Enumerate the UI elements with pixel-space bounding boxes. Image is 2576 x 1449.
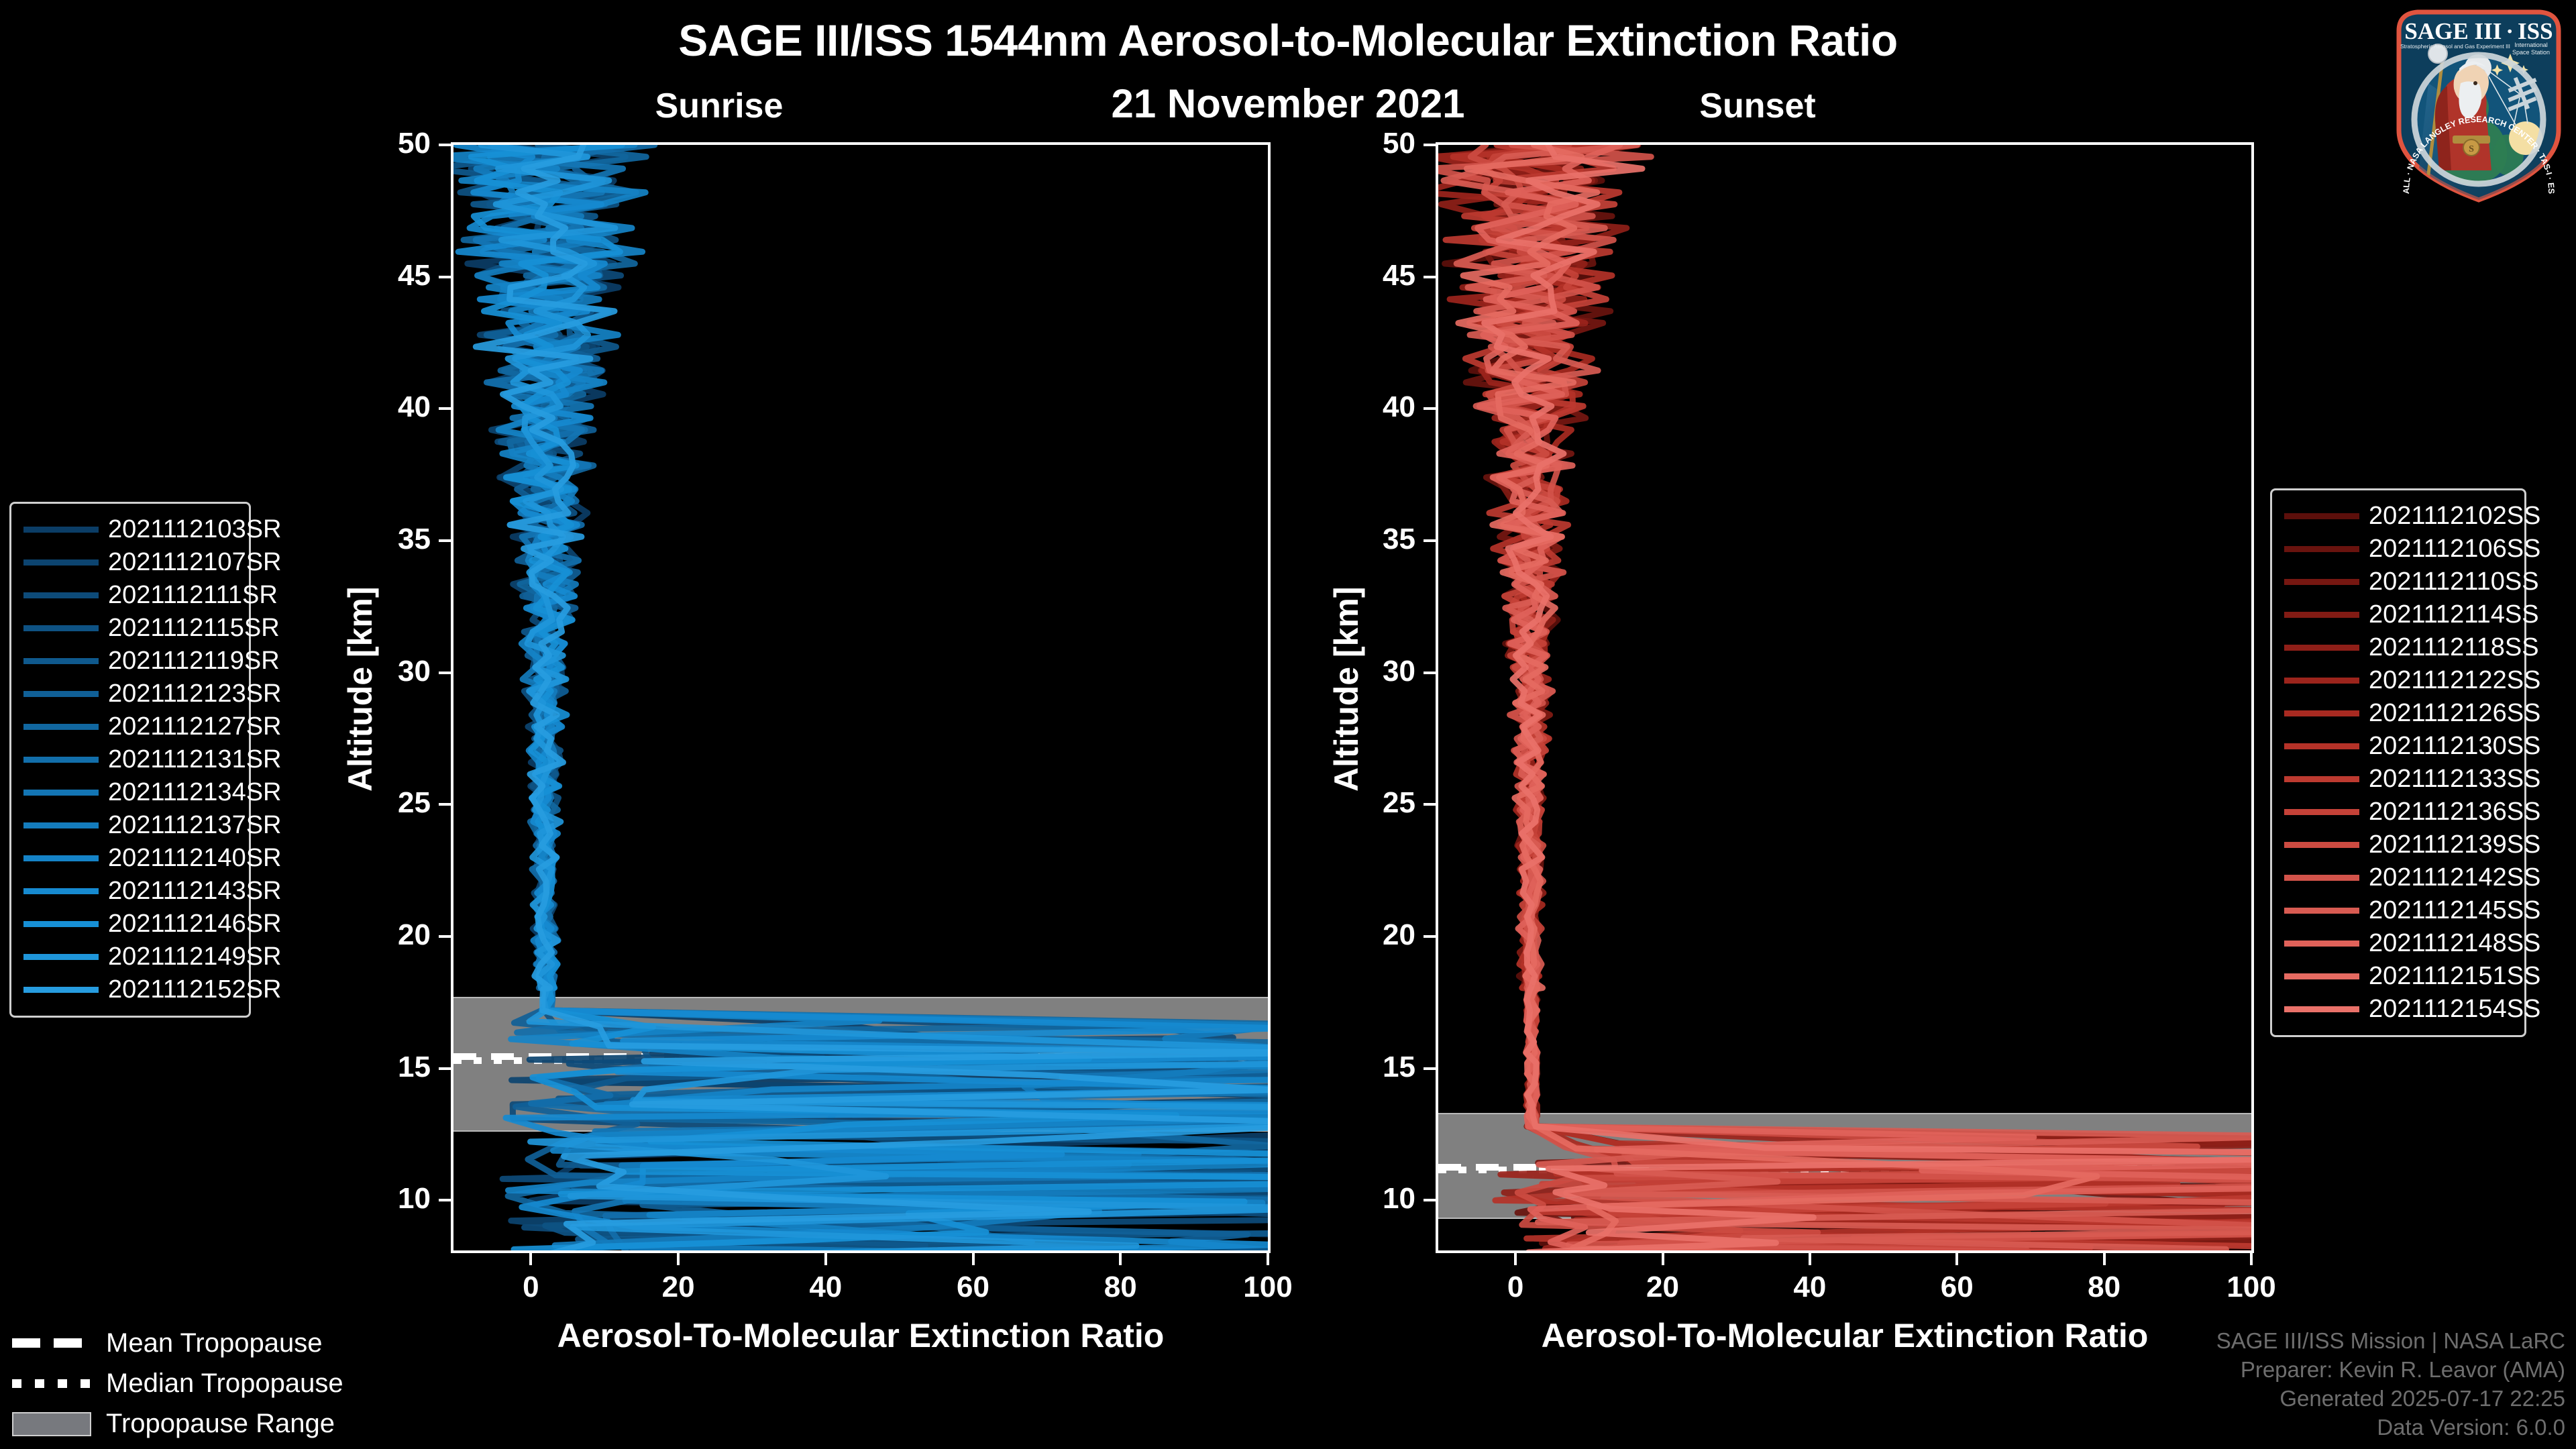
logo-subtitle-right-2: Space Station — [2512, 49, 2550, 56]
y-tick-mark-left-30 — [439, 672, 451, 674]
tropopause-legend-key — [12, 1336, 91, 1350]
legend-sunrise-item[interactable]: 2021112119SR — [23, 645, 237, 678]
legend-sunset-item[interactable]: 2021112151SS — [2284, 960, 2512, 993]
legend-sunrise-item[interactable]: 2021112103SR — [23, 513, 237, 546]
credits-block: SAGE III/ISS Mission | NASA LaRC Prepare… — [2216, 1327, 2565, 1442]
credit-mission: SAGE III/ISS Mission | NASA LaRC — [2216, 1327, 2565, 1356]
plot-inner-sunrise — [453, 145, 1268, 1250]
x-tick-mark-left-40 — [824, 1253, 827, 1265]
legend-sunrise-label: 2021112107SR — [108, 548, 282, 577]
legend-sunrise-label: 2021112123SR — [108, 680, 282, 708]
legend-sunrise-label: 2021112140SR — [108, 844, 282, 873]
tropopause-legend-label: Median Tropopause — [106, 1368, 343, 1399]
y-tick-label-right-45: 45 — [1335, 259, 1415, 292]
credit-data-version: Data Version: 6.0.0 — [2216, 1413, 2565, 1442]
legend-sunset-label: 2021112114SS — [2369, 600, 2539, 629]
legend-sunrise-label: 2021112137SR — [108, 811, 282, 840]
legend-sunset-item[interactable]: 2021112114SS — [2284, 598, 2512, 631]
legend-sunset-item[interactable]: 2021112102SS — [2284, 500, 2512, 533]
legend-sunrise-item[interactable]: 2021112143SR — [23, 875, 237, 908]
logo-subtitle-left: Stratospheric Aerosol and Gas Experiment… — [2400, 44, 2510, 50]
y-tick-label-left-40: 40 — [350, 390, 431, 424]
y-tick-label-left-50: 50 — [350, 127, 431, 160]
legend-sunset-label: 2021112110SS — [2369, 568, 2539, 596]
y-tick-label-right-50: 50 — [1335, 127, 1415, 160]
y-tick-label-right-15: 15 — [1335, 1051, 1415, 1084]
x-tick-label-left-20: 20 — [625, 1271, 732, 1304]
legend-sunset-label: 2021112118SS — [2369, 633, 2539, 662]
plot-area-sunrise — [451, 142, 1271, 1253]
legend-sunrise-label: 2021112111SR — [108, 581, 278, 610]
legend-sunset-color-swatch — [2284, 546, 2359, 552]
y-tick-label-left-35: 35 — [350, 523, 431, 556]
profile-traces-sunrise — [453, 145, 1268, 1250]
legend-sunrise-label: 2021112146SR — [108, 910, 282, 938]
legend-sunrise-item[interactable]: 2021112127SR — [23, 710, 237, 743]
tropopause-legend-item: Median Tropopause — [12, 1363, 343, 1403]
x-tick-mark-right-80 — [2103, 1253, 2106, 1265]
y-tick-mark-right-15 — [1424, 1067, 1436, 1070]
legend-sunrise-label: 2021112131SR — [108, 745, 282, 774]
tropopause-patch-key-icon — [12, 1412, 91, 1436]
x-tick-mark-right-100 — [2250, 1253, 2253, 1265]
y-tick-label-right-40: 40 — [1335, 390, 1415, 424]
legend-sunset-color-swatch — [2284, 875, 2359, 881]
legend-sunset-color-swatch — [2284, 678, 2359, 684]
tropopause-legend-label: Mean Tropopause — [106, 1328, 322, 1358]
plot-area-sunset — [1436, 142, 2254, 1253]
x-tick-mark-left-60 — [972, 1253, 975, 1265]
legend-sunset-label: 2021112106SS — [2369, 535, 2540, 563]
x-tick-mark-right-0 — [1514, 1253, 1517, 1265]
legend-sunrise-label: 2021112119SR — [108, 647, 280, 676]
y-tick-mark-right-35 — [1424, 539, 1436, 542]
legend-sunrise-item[interactable]: 2021112137SR — [23, 809, 237, 842]
logo-subtitle-right-1: International — [2514, 42, 2548, 48]
legend-sunset-item[interactable]: 2021112142SS — [2284, 861, 2512, 894]
y-tick-label-left-10: 10 — [350, 1182, 431, 1216]
legend-sunrise-item[interactable]: 2021112131SR — [23, 743, 237, 776]
profile-traces-sunset — [1438, 145, 2251, 1250]
panel-title-sunrise: Sunrise — [585, 86, 853, 126]
legend-sunrise-color-swatch — [23, 592, 99, 598]
tropopause-legend-key — [12, 1376, 91, 1391]
legend-sunset-label: 2021112148SS — [2369, 929, 2540, 958]
legend-sunset-color-swatch — [2284, 612, 2359, 618]
y-tick-mark-left-25 — [439, 803, 451, 806]
credit-generated: Generated 2025-07-17 22:25 — [2216, 1385, 2565, 1413]
x-axis-title-sunset: Aerosol-To-Molecular Extinction Ratio — [1436, 1316, 2254, 1355]
legend-sunrise-color-swatch — [23, 822, 99, 828]
x-tick-label-right-0: 0 — [1462, 1271, 1569, 1304]
y-tick-label-right-20: 20 — [1335, 918, 1415, 952]
x-tick-label-right-20: 20 — [1609, 1271, 1717, 1304]
y-tick-mark-left-20 — [439, 935, 451, 938]
legend-sunrise-item[interactable]: 2021112111SR — [23, 579, 237, 612]
y-tick-label-right-35: 35 — [1335, 523, 1415, 556]
figure-root: SAGE III/ISS 1544nm Aerosol-to-Molecular… — [0, 0, 2576, 1449]
tropopause-dashed-key-icon — [12, 1338, 91, 1348]
legend-sunset-item[interactable]: 2021112106SS — [2284, 533, 2512, 566]
logo-title-text: SAGE III·ISS — [2404, 18, 2553, 44]
y-tick-mark-left-35 — [439, 539, 451, 542]
y-tick-label-left-20: 20 — [350, 918, 431, 952]
tropopause-legend-item: Mean Tropopause — [12, 1323, 343, 1363]
legend-sunset-item[interactable]: 2021112136SS — [2284, 796, 2512, 828]
legend-sunset-label: 2021112136SS — [2369, 798, 2540, 826]
legend-sunset-label: 2021112145SS — [2369, 896, 2540, 925]
x-tick-mark-right-20 — [1662, 1253, 1664, 1265]
legend-sunset-color-swatch — [2284, 941, 2359, 947]
page-title: SAGE III/ISS 1544nm Aerosol-to-Molecular… — [0, 15, 2576, 66]
legend-sunrise-color-swatch — [23, 855, 99, 861]
legend-sunrise-item[interactable]: 2021112140SR — [23, 842, 237, 875]
y-tick-mark-right-45 — [1424, 276, 1436, 278]
x-tick-mark-left-20 — [677, 1253, 680, 1265]
y-tick-label-left-15: 15 — [350, 1051, 431, 1084]
legend-sunrise-color-swatch — [23, 658, 99, 664]
y-tick-mark-left-15 — [439, 1067, 451, 1070]
x-tick-label-right-40: 40 — [1756, 1271, 1864, 1304]
legend-sunrise-item[interactable]: 2021112149SR — [23, 941, 237, 973]
legend-sunrise-color-swatch — [23, 757, 99, 763]
legend-sunset-color-swatch — [2284, 710, 2359, 716]
legend-sunrise-color-swatch — [23, 559, 99, 566]
x-tick-label-right-100: 100 — [2198, 1271, 2305, 1304]
sage-iii-iss-logo: S SAGE III·ISS Stratospheric Aerosol and… — [2388, 4, 2569, 205]
legend-sunset-label: 2021112139SS — [2369, 830, 2540, 859]
legend-sunset-color-swatch — [2284, 513, 2359, 519]
legend-sunset-item[interactable]: 2021112122SS — [2284, 664, 2512, 697]
tropopause-dotted-key-icon — [12, 1379, 91, 1388]
legend-sunset-item[interactable]: 2021112130SS — [2284, 730, 2512, 763]
y-tick-mark-right-30 — [1424, 672, 1436, 674]
legend-tropopause: Mean TropopauseMedian TropopauseTropopau… — [12, 1323, 343, 1444]
y-tick-mark-right-40 — [1424, 407, 1436, 410]
x-tick-label-left-40: 40 — [772, 1271, 879, 1304]
tropopause-legend-key — [12, 1416, 91, 1431]
x-tick-label-left-80: 80 — [1067, 1271, 1174, 1304]
legend-sunset-color-swatch — [2284, 1006, 2359, 1012]
x-axis-title-sunrise: Aerosol-To-Molecular Extinction Ratio — [451, 1316, 1271, 1355]
legend-sunset-item[interactable]: 2021112145SS — [2284, 894, 2512, 927]
legend-sunrise-item[interactable]: 2021112134SR — [23, 776, 237, 809]
legend-sunrise-item[interactable]: 2021112123SR — [23, 678, 237, 710]
x-tick-mark-left-80 — [1119, 1253, 1122, 1265]
x-tick-mark-left-0 — [529, 1253, 532, 1265]
legend-sunrise-color-swatch — [23, 691, 99, 697]
y-axis-title-sunset: Altitude [km] — [1327, 586, 1366, 792]
y-tick-mark-right-20 — [1424, 935, 1436, 938]
logo-title-sage: SAGE III — [2404, 18, 2502, 44]
legend-sunrise-label: 2021112134SR — [108, 778, 282, 807]
credit-preparer: Preparer: Kevin R. Leavor (AMA) — [2216, 1356, 2565, 1385]
y-tick-mark-left-40 — [439, 407, 451, 410]
legend-sunrise-color-swatch — [23, 954, 99, 960]
panel-title-sunset: Sunset — [1623, 86, 1892, 126]
y-tick-mark-right-10 — [1424, 1199, 1436, 1201]
legend-sunrise-label: 2021112143SR — [108, 877, 282, 906]
date-subtitle: 21 November 2021 — [0, 80, 2576, 127]
legend-sunrise-label: 2021112103SR — [108, 515, 282, 544]
logo-title-dot: · — [2506, 18, 2514, 44]
legend-sunrise-item[interactable]: 2021112152SR — [23, 973, 237, 1006]
legend-sunset-color-swatch — [2284, 743, 2359, 749]
y-tick-label-right-10: 10 — [1335, 1182, 1415, 1216]
y-tick-mark-right-50 — [1424, 144, 1436, 146]
legend-sunrise-item[interactable]: 2021112115SR — [23, 612, 237, 645]
legend-sunset-item[interactable]: 2021112126SS — [2284, 697, 2512, 730]
legend-sunrise-color-swatch — [23, 724, 99, 730]
legend-sunrise-color-swatch — [23, 625, 99, 631]
legend-sunrise-label: 2021112152SR — [108, 975, 282, 1004]
legend-sunset-label: 2021112142SS — [2369, 863, 2540, 892]
legend-sunset[interactable]: 2021112102SS2021112106SS2021112110SS2021… — [2270, 488, 2526, 1037]
legend-sunrise-label: 2021112115SR — [108, 614, 280, 643]
legend-sunset-item[interactable]: 2021112139SS — [2284, 828, 2512, 861]
legend-sunset-label: 2021112126SS — [2369, 699, 2540, 728]
legend-sunset-color-swatch — [2284, 973, 2359, 979]
legend-sunset-color-swatch — [2284, 842, 2359, 848]
x-tick-mark-right-60 — [1955, 1253, 1958, 1265]
legend-sunset-label: 2021112102SS — [2369, 502, 2540, 531]
legend-sunrise-color-swatch — [23, 888, 99, 894]
legend-sunrise-color-swatch — [23, 921, 99, 927]
tropopause-legend-item: Tropopause Range — [12, 1403, 343, 1444]
legend-sunset-label: 2021112130SS — [2369, 732, 2540, 761]
x-tick-label-right-80: 80 — [2051, 1271, 2158, 1304]
x-tick-mark-left-100 — [1267, 1253, 1269, 1265]
legend-sunset-color-swatch — [2284, 776, 2359, 782]
legend-sunset-label: 2021112151SS — [2369, 962, 2540, 991]
legend-sunset-item[interactable]: 2021112154SS — [2284, 993, 2512, 1026]
x-tick-mark-right-40 — [1809, 1253, 1811, 1265]
legend-sunset-item[interactable]: 2021112110SS — [2284, 566, 2512, 598]
legend-sunset-item[interactable]: 2021112133SS — [2284, 763, 2512, 796]
legend-sunrise-color-swatch — [23, 527, 99, 533]
legend-sunset-label: 2021112133SS — [2369, 765, 2540, 794]
legend-sunset-color-swatch — [2284, 645, 2359, 651]
legend-sunrise-item[interactable]: 2021112146SR — [23, 908, 237, 941]
legend-sunset-item[interactable]: 2021112148SS — [2284, 927, 2512, 960]
x-tick-label-left-0: 0 — [477, 1271, 584, 1304]
y-tick-mark-left-50 — [439, 144, 451, 146]
legend-sunrise[interactable]: 2021112103SR2021112107SR2021112111SR2021… — [9, 502, 251, 1018]
legend-sunset-color-swatch — [2284, 809, 2359, 815]
legend-sunset-label: 2021112122SS — [2369, 666, 2540, 695]
legend-sunset-item[interactable]: 2021112118SS — [2284, 631, 2512, 664]
x-tick-label-left-60: 60 — [920, 1271, 1027, 1304]
svg-text:S: S — [2469, 144, 2474, 154]
tropopause-legend-label: Tropopause Range — [106, 1409, 335, 1439]
y-tick-mark-right-25 — [1424, 803, 1436, 806]
legend-sunset-color-swatch — [2284, 579, 2359, 585]
y-tick-mark-left-10 — [439, 1199, 451, 1201]
x-tick-label-left-100: 100 — [1214, 1271, 1322, 1304]
legend-sunrise-label: 2021112149SR — [108, 943, 282, 971]
x-tick-label-right-60: 60 — [1903, 1271, 2010, 1304]
legend-sunrise-color-swatch — [23, 987, 99, 993]
logo-title-iss: ISS — [2518, 18, 2553, 44]
legend-sunrise-item[interactable]: 2021112107SR — [23, 546, 237, 579]
plot-inner-sunset — [1438, 145, 2251, 1250]
legend-sunset-label: 2021112154SS — [2369, 995, 2540, 1024]
y-axis-title-sunrise: Altitude [km] — [341, 586, 380, 792]
legend-sunrise-color-swatch — [23, 790, 99, 796]
y-tick-label-left-45: 45 — [350, 259, 431, 292]
y-tick-mark-left-45 — [439, 276, 451, 278]
legend-sunset-color-swatch — [2284, 908, 2359, 914]
legend-sunrise-label: 2021112127SR — [108, 712, 282, 741]
